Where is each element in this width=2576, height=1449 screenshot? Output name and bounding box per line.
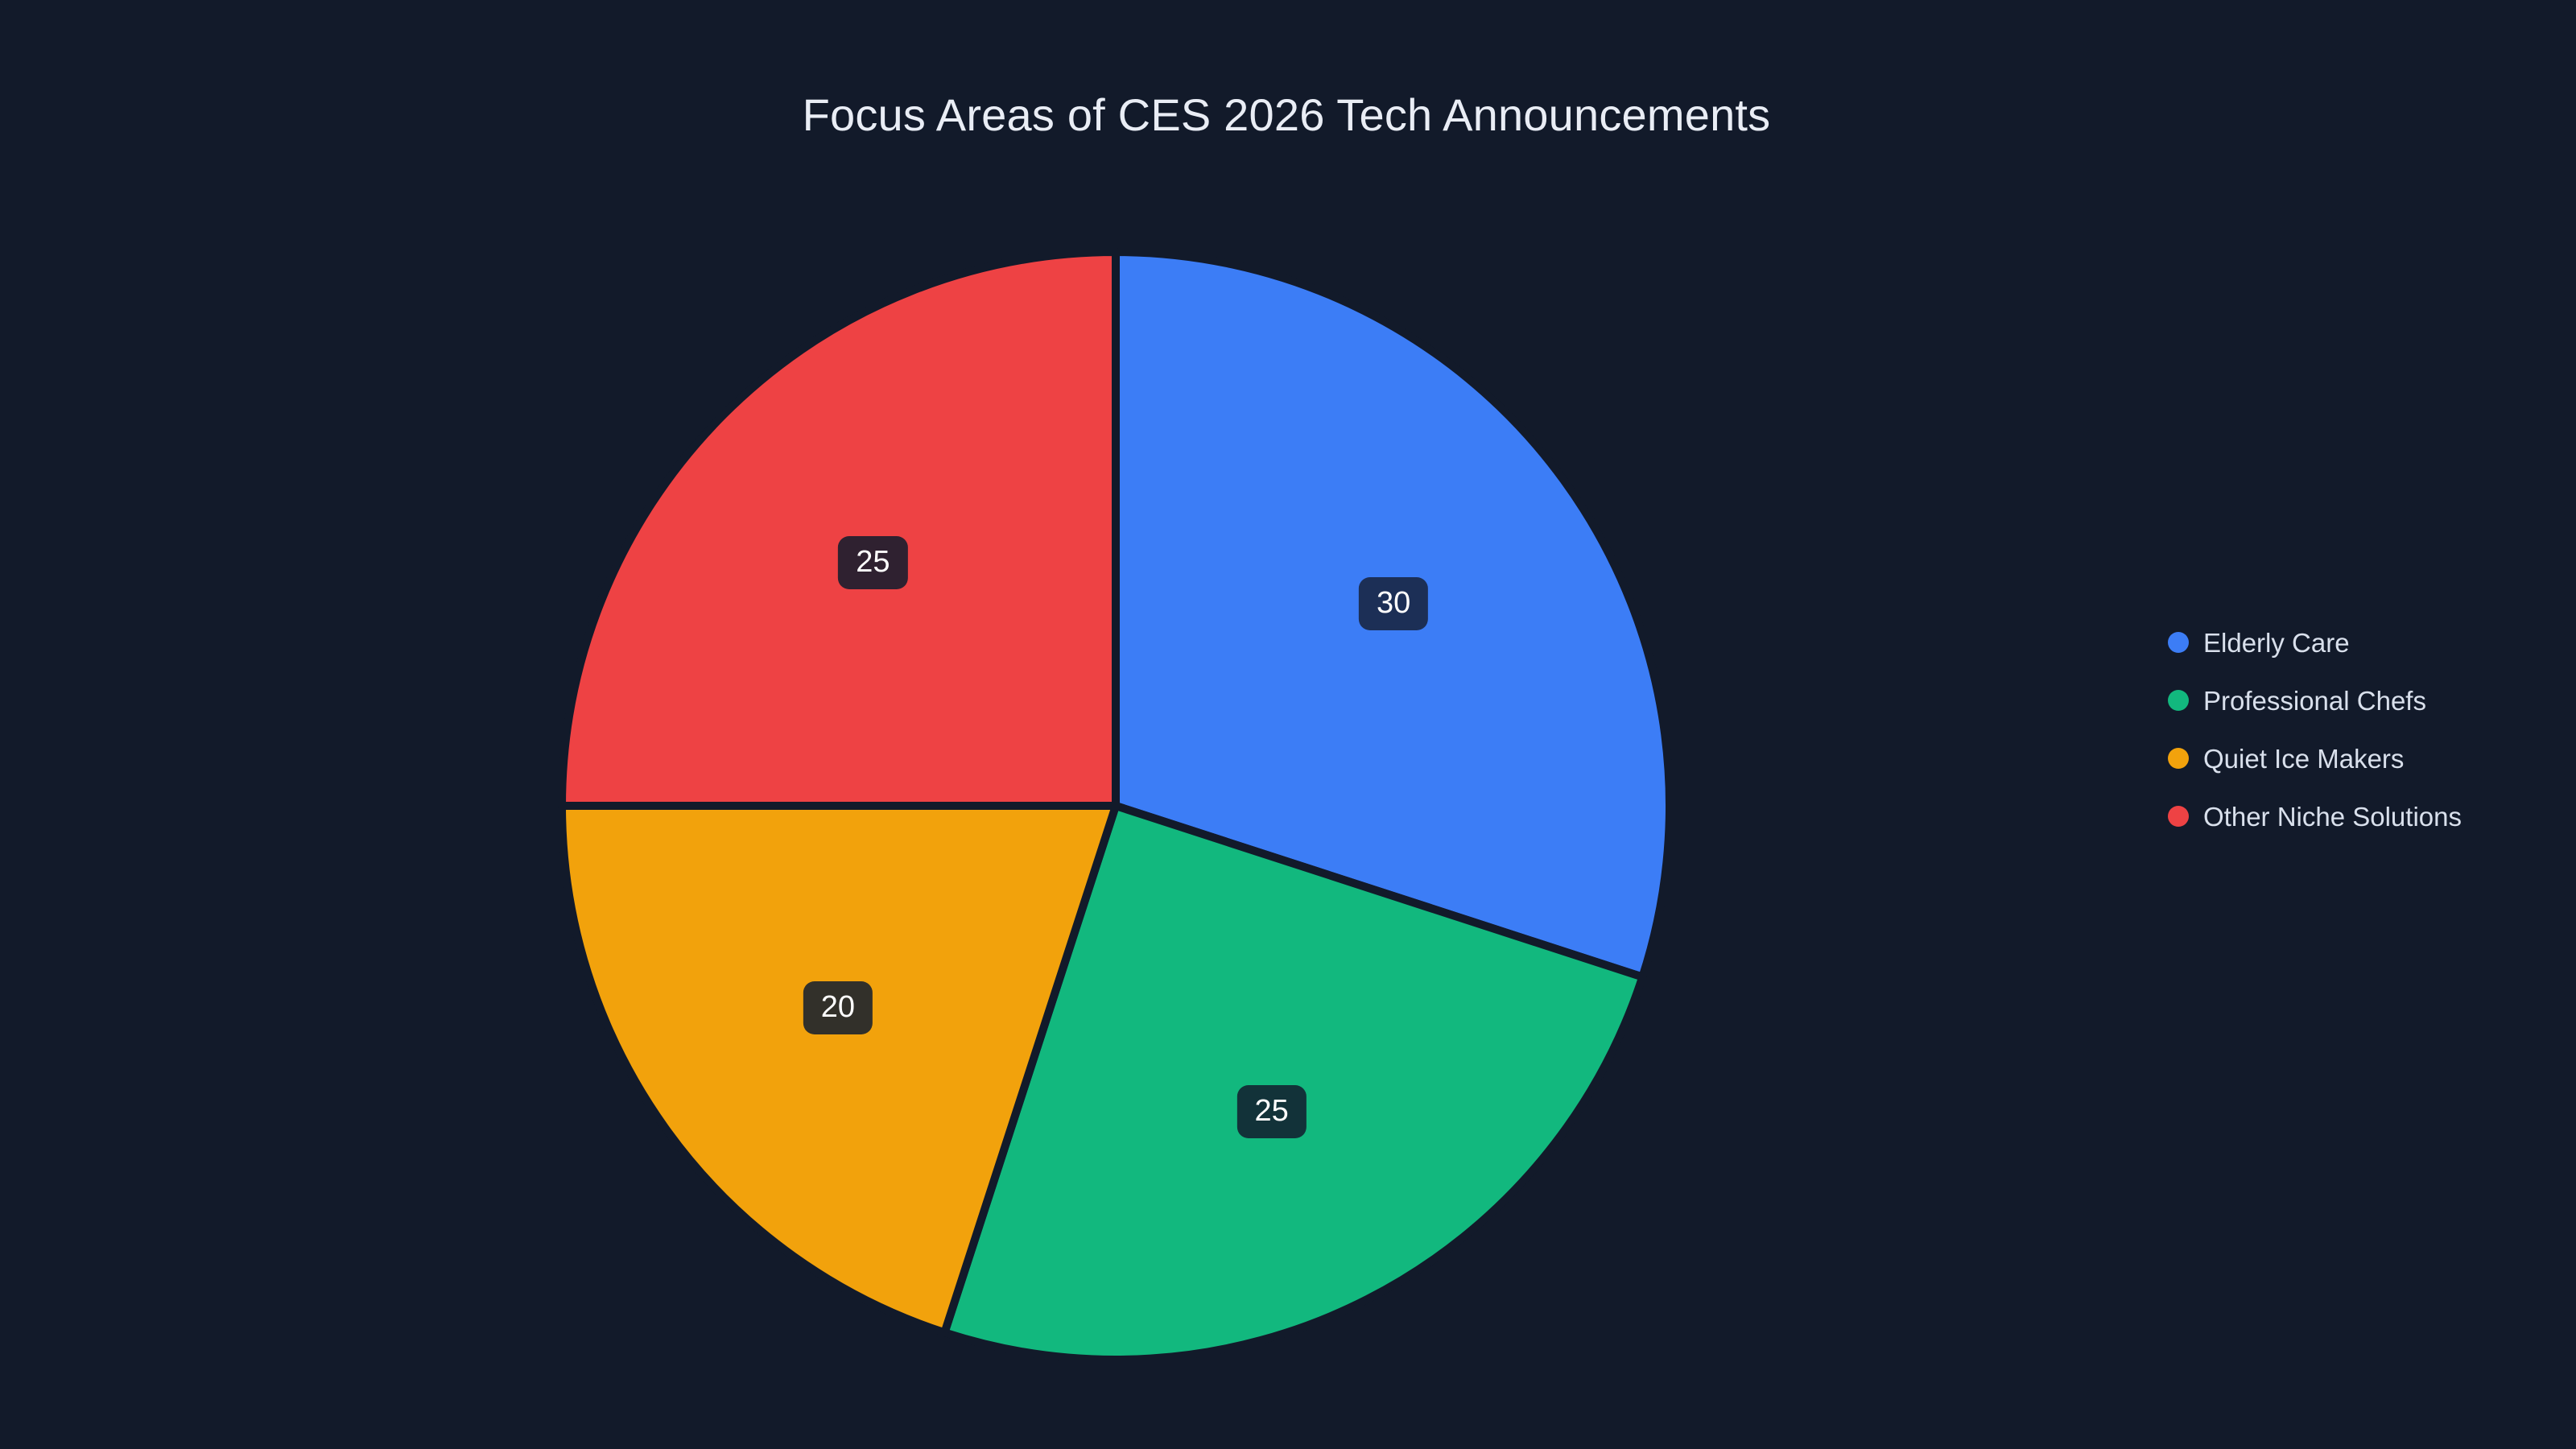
pie-chart: 30252025 xyxy=(562,252,1670,1360)
pie-slice-label: 20 xyxy=(803,981,873,1034)
pie-svg xyxy=(562,252,1670,1360)
pie-slice-label: 25 xyxy=(838,536,907,589)
legend[interactable]: Elderly CareProfessional ChefsQuiet Ice … xyxy=(2168,613,2538,845)
pie-slice-label: 25 xyxy=(1237,1085,1307,1138)
chart-title: Focus Areas of CES 2026 Tech Announcemen… xyxy=(0,90,2576,140)
legend-swatch-icon xyxy=(2168,748,2189,769)
legend-item-label: Quiet Ice Makers xyxy=(2203,745,2404,772)
legend-item-label: Other Niche Solutions xyxy=(2203,803,2462,830)
legend-item-label: Professional Chefs xyxy=(2203,687,2426,714)
chart-canvas: Focus Areas of CES 2026 Tech Announcemen… xyxy=(0,0,2576,1449)
legend-swatch-icon xyxy=(2168,690,2189,711)
chart-title-text: Focus Areas of CES 2026 Tech Announcemen… xyxy=(803,90,1771,140)
pie-slice[interactable] xyxy=(562,252,1116,806)
legend-item-label: Elderly Care xyxy=(2203,630,2350,656)
pie-slice-label: 30 xyxy=(1359,577,1428,630)
pie-slices xyxy=(562,252,1670,1360)
legend-swatch-icon xyxy=(2168,806,2189,827)
legend-item[interactable]: Other Niche Solutions xyxy=(2168,787,2538,845)
legend-swatch-icon xyxy=(2168,632,2189,653)
legend-item[interactable]: Quiet Ice Makers xyxy=(2168,729,2538,787)
legend-item[interactable]: Professional Chefs xyxy=(2168,671,2538,729)
legend-item[interactable]: Elderly Care xyxy=(2168,613,2538,671)
